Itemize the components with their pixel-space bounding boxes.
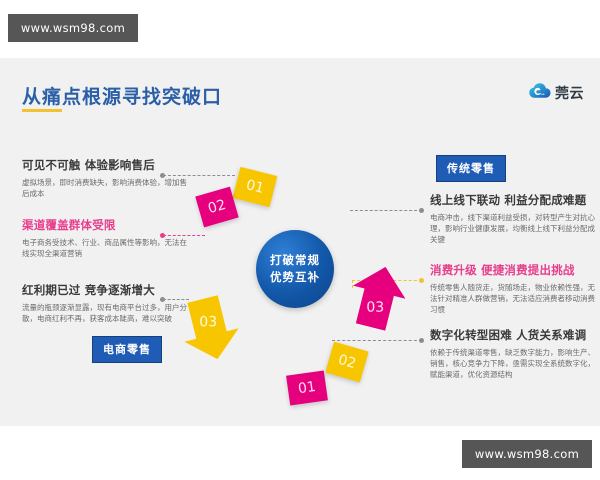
right-block-3: 数字化转型困难 人货关系难调 依赖于传统渠道零售，缺乏数字能力，影响生产、销售，… [430, 328, 598, 380]
center-circle-line1: 打破常规 [270, 252, 320, 269]
left-block-1-heading: 可见不可触 体验影响售后 [22, 158, 190, 173]
left-block-3-body: 流量的瓶颈逐渐显露，现有电商平台过多，用户分散，电商红利不再，获客成本陡高，难以… [22, 302, 190, 324]
badge-traditional-retail: 传统零售 [436, 155, 506, 182]
connector-left-2 [163, 235, 205, 236]
left-block-2-heading: 渠道覆盖群体受限 [22, 218, 190, 233]
number-card-02-bottom-label: 02 [336, 352, 358, 372]
left-block-1: 可见不可触 体验影响售后 虚拟场景，即时消费缺失，影响消费体验，增加售后成本 [22, 158, 190, 199]
connector-left-1 [163, 175, 235, 176]
center-circle-line2: 优势互补 [270, 269, 320, 286]
right-block-3-heading: 数字化转型困难 人货关系难调 [430, 328, 598, 343]
watermark-bottom-text: www.wsm98.com [475, 447, 579, 461]
connector-right-3 [332, 340, 422, 341]
badge-ecommerce-retail: 电商零售 [92, 336, 162, 363]
number-card-02-top: 02 [195, 187, 238, 228]
connector-left-3 [163, 299, 189, 300]
number-card-01-bottom: 01 [286, 371, 328, 406]
left-block-3-heading: 红利期已过 竞争逐渐增大 [22, 283, 190, 298]
watermark-bottom: www.wsm98.com [462, 440, 592, 468]
connector-right-1 [350, 210, 422, 211]
right-block-3-body: 依赖于传统渠道零售，缺乏数字能力，影响生产、销售，核心竞争力下降，亟需实现全系统… [430, 347, 598, 380]
left-block-2: 渠道覆盖群体受限 电子商务受技术、行业、商品属性等影响，无法在线实现全渠道营销 [22, 218, 190, 259]
right-block-2-body: 传统零售人随货走，货随场走，物业依赖性强，无法针对精准人群做营销，无法适应消费者… [430, 282, 598, 315]
left-block-1-body: 虚拟场景，即时消费缺失，影响消费体验，增加售后成本 [22, 177, 190, 199]
watermark-top: www.wsm98.com [8, 14, 138, 42]
page-title: 从痛点根源寻找突破口 [22, 82, 222, 109]
title-underline [22, 109, 62, 112]
arrow-up-03: 03 [344, 260, 411, 333]
arrow-down-03-label: 03 [199, 314, 217, 330]
slide-canvas: 从痛点根源寻找突破口 莞云 [0, 58, 600, 426]
watermark-top-text: www.wsm98.com [21, 21, 125, 35]
number-card-01-top: 01 [233, 167, 278, 207]
connector-dot-left-3 [160, 297, 165, 302]
number-card-01-bottom-label: 01 [297, 379, 317, 397]
brand-logo: 莞云 [529, 82, 584, 103]
right-block-2: 消费升级 便捷消费提出挑战 传统零售人随货走，货随场走，物业依赖性强，无法针对精… [430, 263, 598, 315]
connector-dot-left-2 [160, 233, 165, 238]
left-block-3: 红利期已过 竞争逐渐增大 流量的瓶颈逐渐显露，现有电商平台过多，用户分散，电商红… [22, 283, 190, 324]
arrow-up-03-label: 03 [366, 300, 384, 316]
slide-root: www.wsm98.com 从痛点根源寻找突破口 [0, 0, 600, 480]
right-block-1-heading: 线上线下联动 利益分配成难题 [430, 193, 598, 208]
center-circle: 打破常规 优势互补 [256, 230, 334, 308]
connector-dot-right-1 [419, 208, 424, 213]
brand-logo-text: 莞云 [555, 83, 584, 103]
connector-dot-right-3 [419, 338, 424, 343]
connector-dot-right-2 [419, 278, 424, 283]
cloud-icon [529, 82, 551, 103]
right-block-1-body: 电商冲击，线下渠道利益受损，对转型产生对抗心理，影响行业健康发展，均衡线上线下利… [430, 212, 598, 245]
connector-dot-left-1 [160, 173, 165, 178]
right-block-1: 线上线下联动 利益分配成难题 电商冲击，线下渠道利益受损，对转型产生对抗心理，影… [430, 193, 598, 245]
right-block-2-heading: 消费升级 便捷消费提出挑战 [430, 263, 598, 278]
number-card-01-top-label: 01 [244, 177, 265, 197]
connector-right-2-tick [352, 280, 353, 288]
number-card-02-bottom: 02 [325, 342, 368, 383]
left-block-2-body: 电子商务受技术、行业、商品属性等影响，无法在线实现全渠道营销 [22, 237, 190, 259]
number-card-02-top-label: 02 [206, 197, 228, 217]
